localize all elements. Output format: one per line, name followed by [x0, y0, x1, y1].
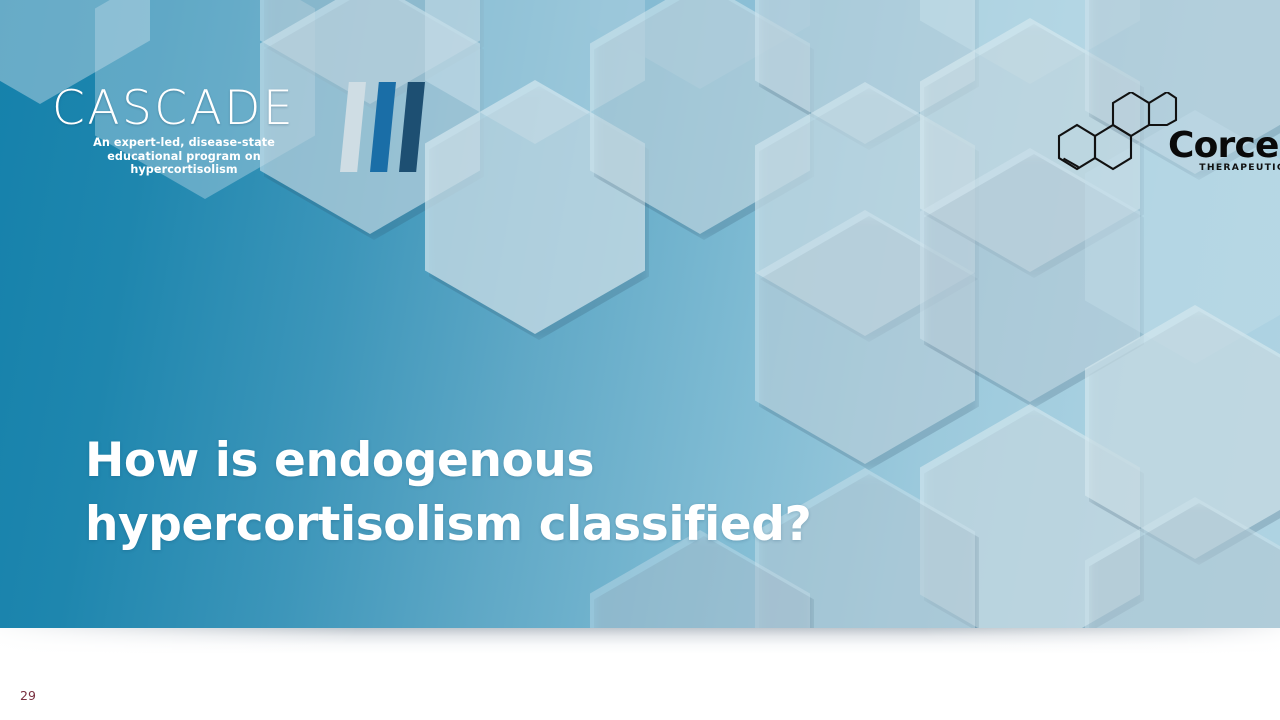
cascade-tagline-line1: An expert-led, disease-state [93, 136, 275, 149]
cascade-logo[interactable]: CASCADE An expert-led, disease-state edu… [52, 84, 397, 174]
cascade-tagline-line2: educational program on hypercortisolism [107, 150, 261, 177]
banner-drop-shadow [0, 628, 1280, 654]
cascade-diagonal-bars-icon [302, 82, 452, 177]
page-title: How is endogenous hypercortisolism class… [85, 429, 845, 557]
cascade-tagline: An expert-led, disease-state educational… [56, 136, 312, 177]
page-title-line2: hypercortisolism classified? [85, 493, 845, 557]
cascade-bar-medium [370, 82, 396, 172]
corcept-subtitle: THERAPEUTICS [1168, 162, 1280, 173]
steroid-ring-icon [1055, 92, 1180, 184]
cascade-wordmark: CASCADE [52, 84, 295, 134]
page-number: 29 [20, 688, 36, 703]
page-title-line1: How is endogenous [85, 433, 594, 488]
cascade-bar-light [340, 82, 366, 172]
cascade-bar-dark [399, 82, 425, 172]
corcept-wordmark: Corcept [1168, 128, 1280, 164]
slide-root: CASCADE An expert-led, disease-state edu… [0, 0, 1280, 720]
corcept-logo[interactable]: Corcept THERAPEUTICS [1055, 92, 1240, 184]
